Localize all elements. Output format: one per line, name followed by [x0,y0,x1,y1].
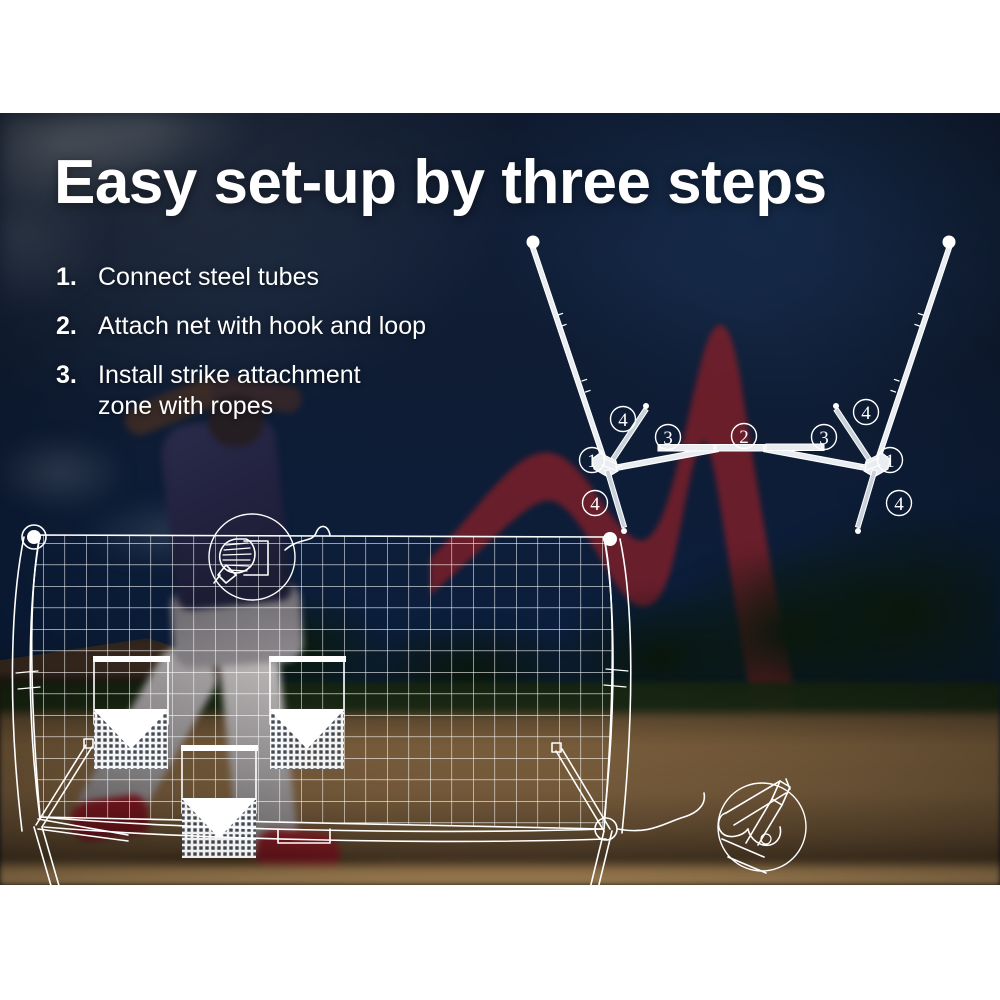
step-number: 3. [56,360,98,391]
page-title: Easy set-up by three steps [54,152,827,214]
step-label: Connect steel tubes [98,262,319,293]
vignette-layer [0,113,1000,885]
poster-canvas: 1 1 2 3 3 4 4 [0,0,1000,1000]
step-number: 2. [56,311,98,342]
steps-list: 1. Connect steel tubes 2. Attach net wit… [56,262,526,440]
list-item: 3. Install strike attachment zone with r… [56,360,526,422]
list-item: 1. Connect steel tubes [56,262,526,293]
step-label: Install strike attachment zone with rope… [98,360,361,422]
background-photo [0,113,1000,885]
list-item: 2. Attach net with hook and loop [56,311,526,342]
step-label: Attach net with hook and loop [98,311,426,342]
step-number: 1. [56,262,98,293]
